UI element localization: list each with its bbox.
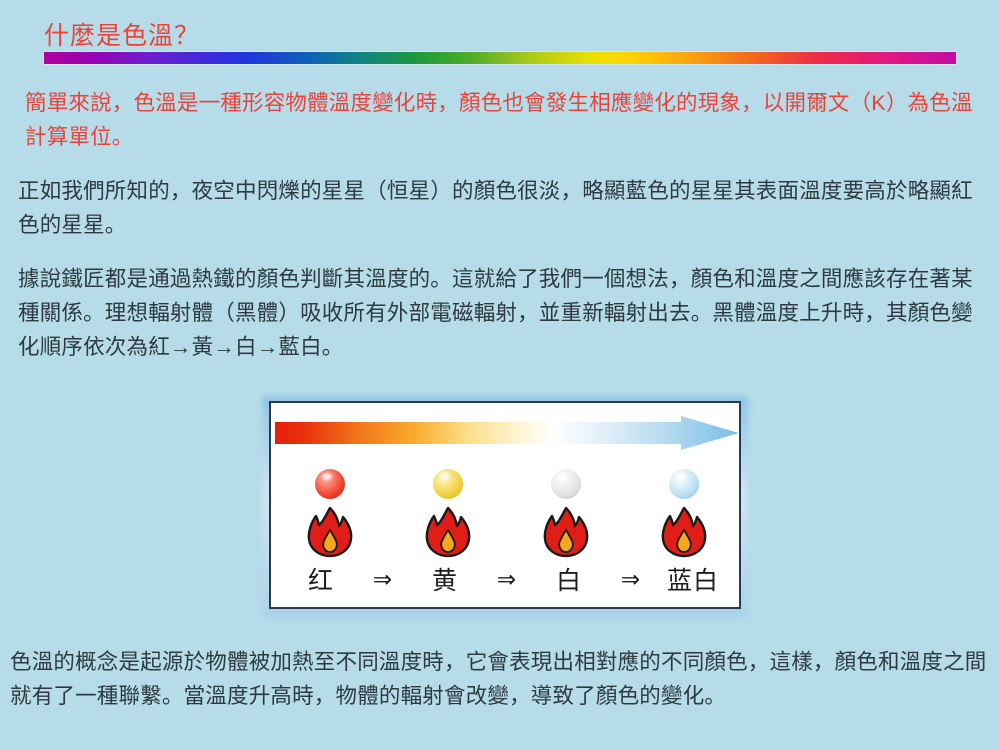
stage-label-blue-white: 蓝白: [654, 561, 732, 597]
stage-icon-red: [287, 465, 373, 560]
arrow-separator-icon: ⇒: [608, 566, 654, 593]
stage-icon-blue-white: [641, 465, 727, 560]
stage-label-white: 白: [530, 561, 608, 597]
rainbow-divider-bar: [44, 52, 956, 64]
stage-icon-yellow: [405, 465, 491, 560]
stage-icon-row: [271, 465, 741, 560]
temperature-gradient-arrow: [275, 416, 739, 450]
flame-icon: [659, 506, 709, 558]
sphere-yellow: [433, 469, 463, 499]
paragraph-blackbody: 據說鐵匠都是通過熱鐵的顏色判斷其溫度的。這就給了我們一個想法，顏色和溫度之間應該…: [18, 262, 983, 364]
stage-icon-white: [523, 465, 609, 560]
arrow-separator-icon: ⇒: [360, 566, 406, 593]
stage-label-red: 红: [282, 561, 360, 597]
sphere-white: [551, 469, 581, 499]
paragraph-stars: 正如我們所知的，夜空中閃爍的星星（恒星）的顏色很淡，略顯藍色的星星其表面溫度要高…: [18, 174, 983, 242]
stage-label-yellow: 黄: [406, 561, 484, 597]
sphere-red: [315, 469, 345, 499]
stage-label-row: 红 ⇒ 黄 ⇒ 白 ⇒ 蓝白: [271, 561, 741, 597]
panel-inner: 红 ⇒ 黄 ⇒ 白 ⇒ 蓝白: [269, 401, 741, 609]
illustration-panel: 红 ⇒ 黄 ⇒ 白 ⇒ 蓝白: [262, 396, 748, 618]
flame-icon: [423, 506, 473, 558]
sphere-blue-white: [669, 469, 699, 499]
flame-icon: [305, 506, 355, 558]
arrow-separator-icon: ⇒: [484, 566, 530, 593]
flame-icon: [541, 506, 591, 558]
paragraph-intro: 簡單來說，色溫是一種形容物體溫度變化時，顏色也會發生相應變化的現象，以開爾文（K…: [25, 86, 980, 154]
paragraph-conclusion: 色溫的概念是起源於物體被加熱至不同溫度時，它會表現出相對應的不同顏色，這樣，顏色…: [10, 645, 995, 713]
page-title: 什麼是色溫？: [44, 16, 200, 52]
